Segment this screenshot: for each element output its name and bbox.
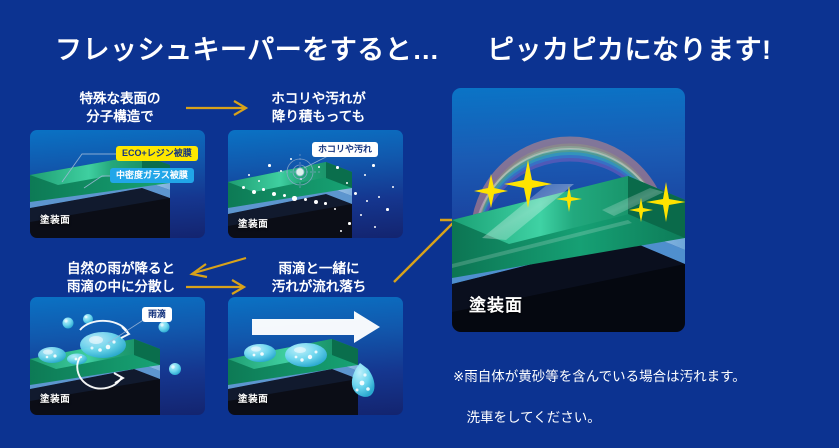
- badge-raindrop: 雨滴: [142, 307, 172, 322]
- page-title-right: ピッカピカになります!: [487, 28, 772, 67]
- step-2-caption-line-1: ホコリや汚れが: [256, 90, 381, 108]
- arrow-left-bottom: [186, 256, 248, 280]
- plate-label-step-2: 塗装面: [238, 216, 268, 230]
- step-1-caption-line-2: 分子構造で: [60, 108, 180, 126]
- page-title-left: フレッシュキーパーをすると…: [55, 28, 440, 67]
- badge-medium-density-glass-coating: 中密度ガラス被膜: [110, 168, 194, 183]
- step-2-caption: ホコリや汚れが 降り積もっても: [256, 90, 381, 126]
- sparkle-icon-1: [474, 174, 508, 208]
- step-1-caption: 特殊な表面の 分子構造で: [60, 90, 180, 126]
- plate-label-step-3: 塗装面: [40, 391, 70, 405]
- plate-label-result: 塗装面: [469, 291, 523, 316]
- sparkle-icon-3: [556, 186, 582, 212]
- plate-label-step-1: 塗装面: [40, 212, 70, 226]
- panel-step-3: 雨滴 塗装面: [30, 297, 205, 415]
- step-1-caption-line-1: 特殊な表面の: [60, 90, 180, 108]
- footnote-text: ※雨自体が黄砂等を含んでいる場合は汚れます。 洗車をしてください。: [453, 347, 746, 448]
- panel-step-2: ホコリや汚れ 塗装面: [228, 130, 403, 238]
- sparkle-icon-5: [646, 182, 685, 222]
- arrow-right-top: [186, 98, 256, 118]
- step-3-caption-line-2: 雨滴の中に分散し: [48, 278, 194, 296]
- badge-eco-resin-coating: ECO+レジン被膜: [116, 146, 198, 161]
- panel-result: 塗装面: [452, 88, 685, 332]
- infographic-root: フレッシュキーパーをすると… ピッカピカになります! 特殊な表面の 分子構造で …: [0, 0, 839, 431]
- step-2-caption-line-2: 降り積もっても: [256, 108, 381, 126]
- plate-label-step-4: 塗装面: [238, 391, 268, 405]
- panel-step-1: ECO+レジン被膜 中密度ガラス被膜 塗装面: [30, 130, 205, 238]
- badge-dust-and-dirt: ホコリや汚れ: [312, 142, 378, 157]
- footnote-line-2: 洗車をしてください。: [453, 408, 746, 428]
- step-4-caption: 雨滴と一緒に 汚れが流れ落ち: [252, 260, 386, 296]
- panel-step-4: 塗装面: [228, 297, 403, 415]
- footnote-line-1: ※雨自体が黄砂等を含んでいる場合は汚れます。: [453, 367, 746, 387]
- sparkle-icon-2: [504, 160, 552, 208]
- step-4-caption-line-1: 雨滴と一緒に: [252, 260, 386, 278]
- step-4-caption-line-2: 汚れが流れ落ち: [252, 278, 386, 296]
- step-3-caption: 自然の雨が降ると 雨滴の中に分散し: [48, 260, 194, 296]
- arrow-right-bottom: [186, 278, 254, 296]
- step-3-caption-line-1: 自然の雨が降ると: [48, 260, 194, 278]
